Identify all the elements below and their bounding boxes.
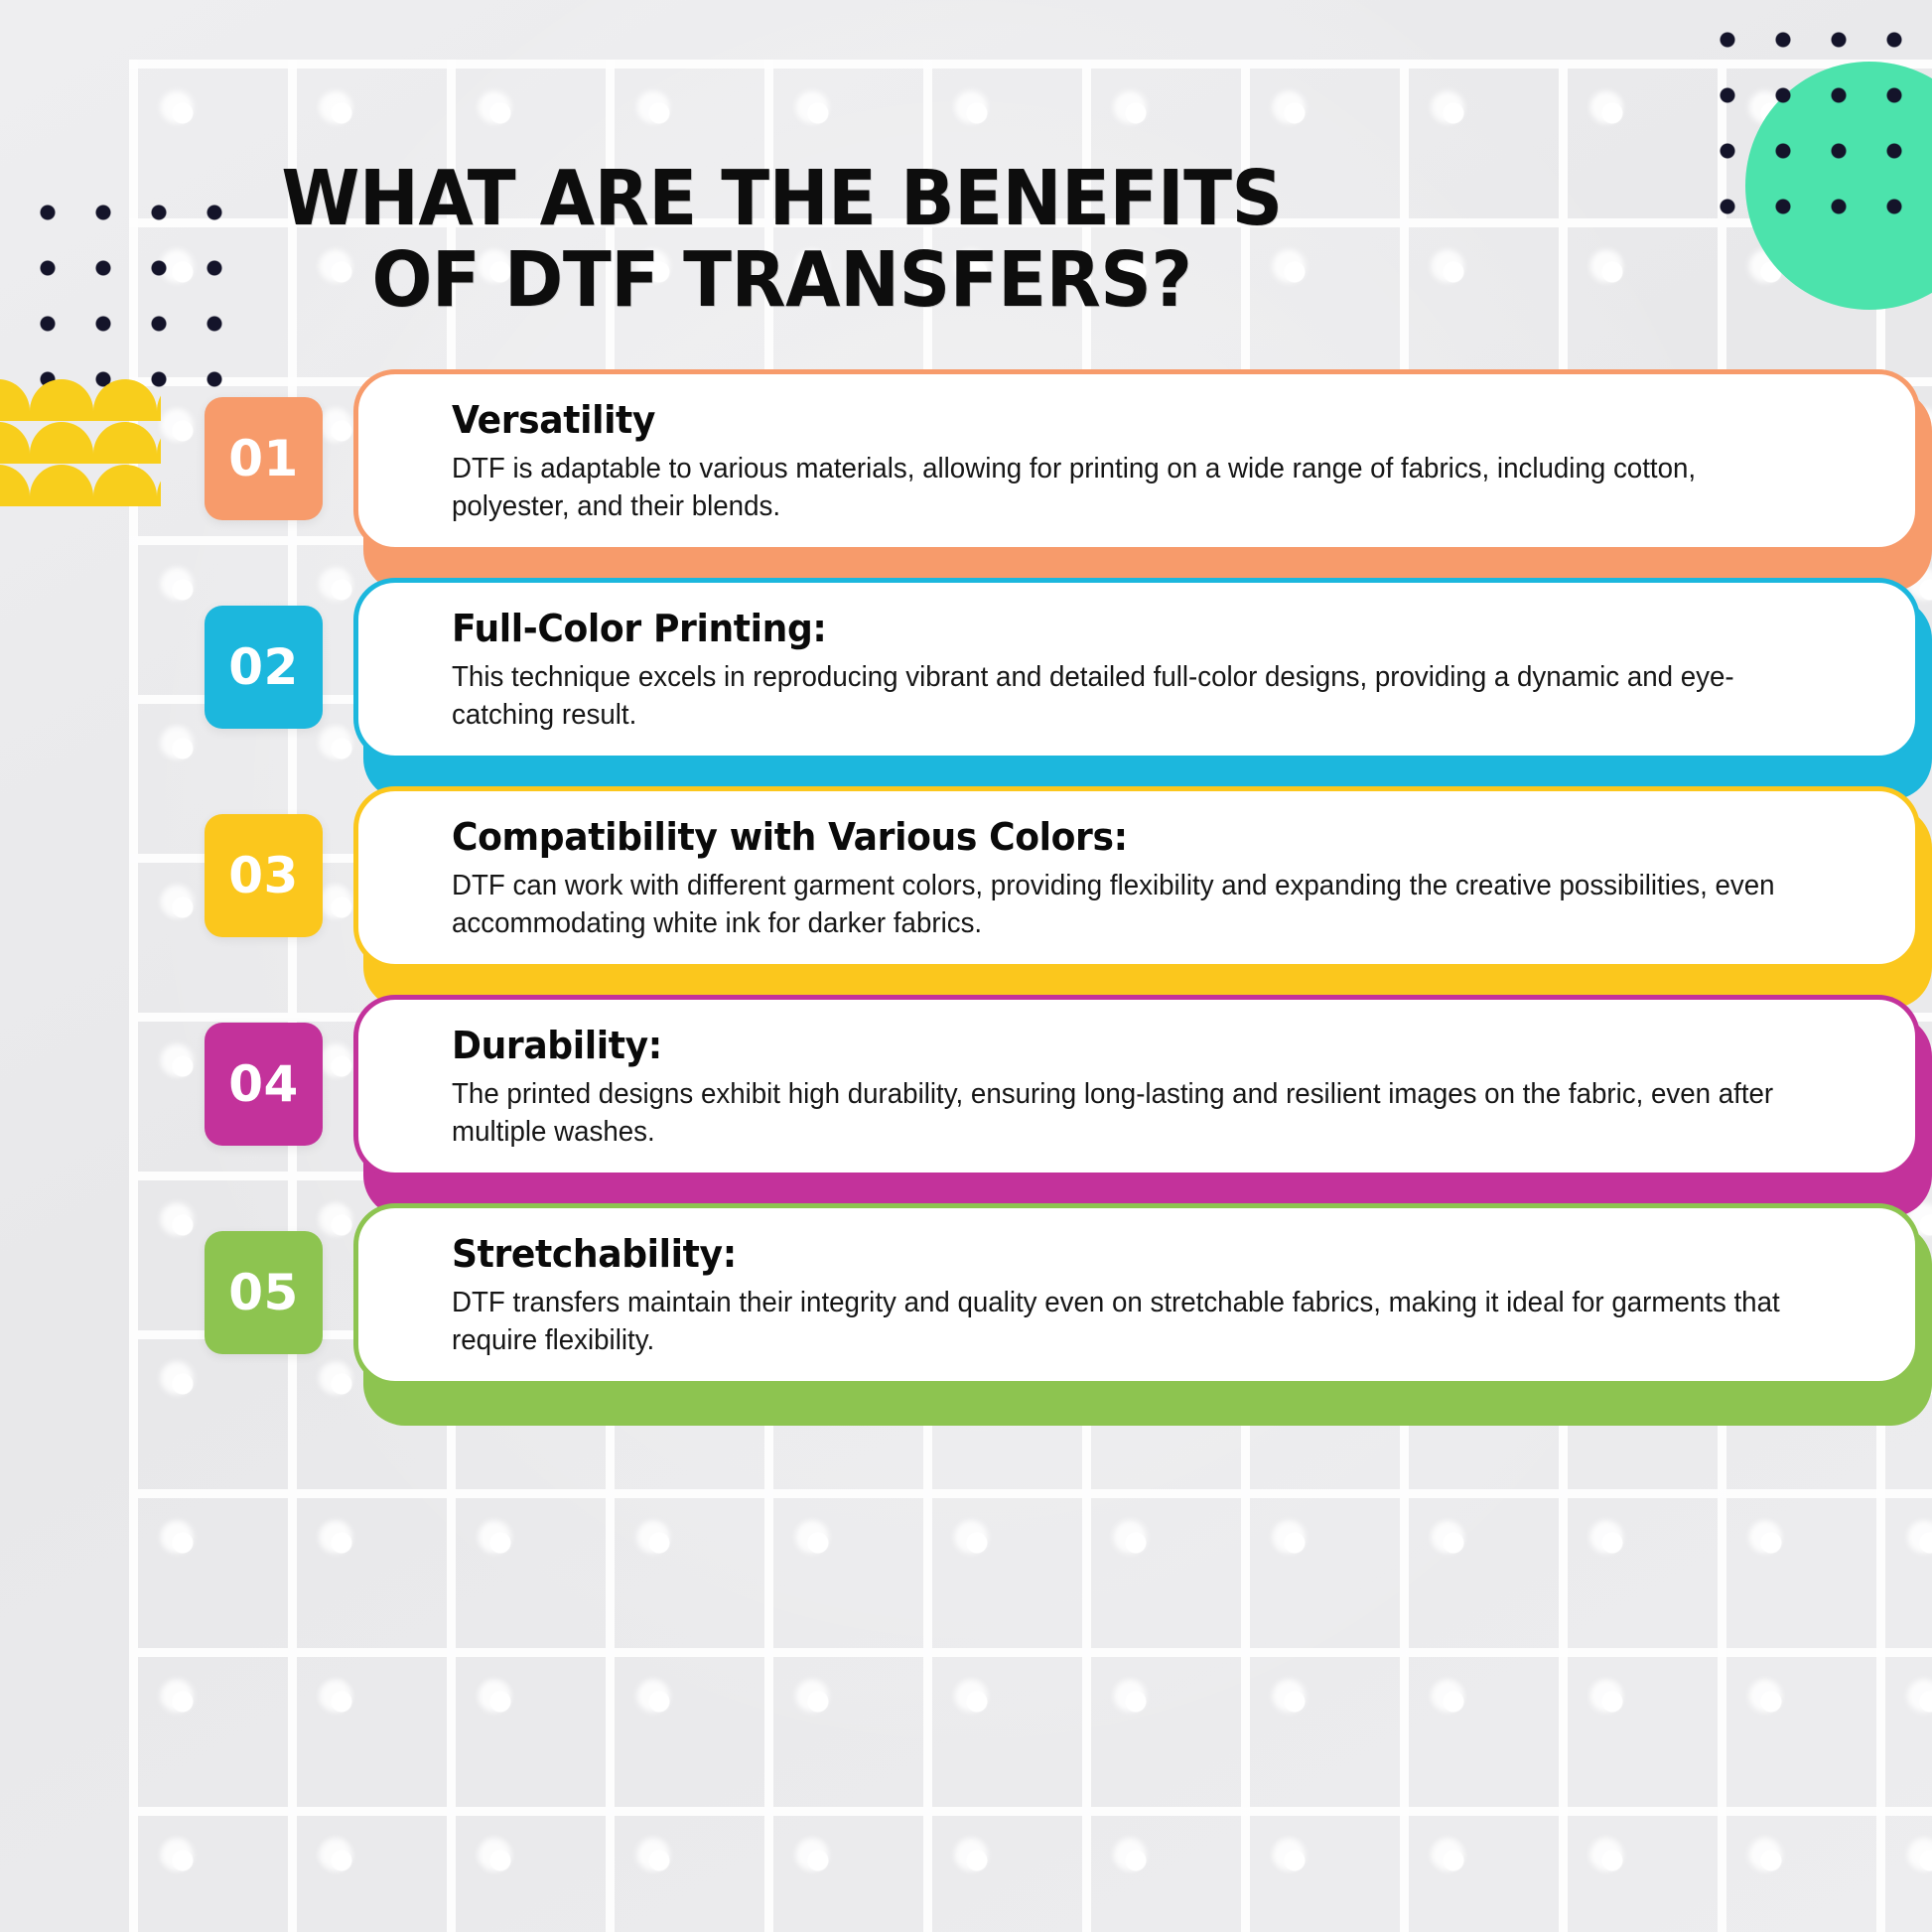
benefit-title: Stretchability: bbox=[452, 1233, 1804, 1276]
list-item: Compatibility with Various Colors: DTF c… bbox=[0, 782, 1932, 991]
benefit-number-badge: 03 bbox=[205, 814, 323, 937]
semicircle-row bbox=[0, 465, 161, 506]
benefit-title: Versatility bbox=[452, 399, 1804, 442]
benefit-card[interactable]: Stretchability: DTF transfers maintain t… bbox=[353, 1203, 1920, 1386]
benefit-title: Durability: bbox=[452, 1025, 1804, 1067]
list-item: Stretchability: DTF transfers maintain t… bbox=[0, 1199, 1932, 1408]
list-item: Versatility DTF is adaptable to various … bbox=[0, 365, 1932, 574]
semicircle-icon bbox=[157, 379, 161, 421]
semicircle-icon bbox=[0, 422, 30, 464]
dot-grid-top-right-icon bbox=[1696, 8, 1924, 251]
benefit-description: This technique excels in reproducing vib… bbox=[452, 658, 1811, 735]
benefit-description: DTF is adaptable to various materials, a… bbox=[452, 450, 1811, 526]
benefit-number-badge: 05 bbox=[205, 1231, 323, 1354]
semicircle-icon bbox=[30, 422, 93, 464]
benefit-number-badge: 01 bbox=[205, 397, 323, 520]
benefit-title: Full-Color Printing: bbox=[452, 608, 1804, 650]
semicircle-icon bbox=[0, 465, 30, 506]
semicircle-row bbox=[0, 379, 161, 421]
list-item: Durability: The printed designs exhibit … bbox=[0, 991, 1932, 1199]
list-item: Full-Color Printing: This technique exce… bbox=[0, 574, 1932, 782]
benefit-number-badge: 02 bbox=[205, 606, 323, 729]
semicircle-icon bbox=[30, 379, 93, 421]
benefit-description: DTF transfers maintain their integrity a… bbox=[452, 1284, 1811, 1360]
semicircle-icon bbox=[93, 465, 157, 506]
semicircle-icon bbox=[0, 379, 30, 421]
semicircle-icon bbox=[93, 379, 157, 421]
benefit-card[interactable]: Durability: The printed designs exhibit … bbox=[353, 995, 1920, 1177]
semicircle-icon bbox=[30, 465, 93, 506]
benefits-list: Versatility DTF is adaptable to various … bbox=[0, 365, 1932, 1408]
benefit-title: Compatibility with Various Colors: bbox=[452, 816, 1804, 859]
benefit-description: DTF can work with different garment colo… bbox=[452, 867, 1811, 943]
semicircle-row bbox=[0, 422, 161, 464]
semicircle-icon bbox=[157, 422, 161, 464]
yellow-semicircles-decoration bbox=[0, 379, 161, 506]
semicircle-icon bbox=[157, 465, 161, 506]
benefit-card[interactable]: Versatility DTF is adaptable to various … bbox=[353, 369, 1920, 552]
benefit-card[interactable]: Full-Color Printing: This technique exce… bbox=[353, 578, 1920, 760]
benefit-description: The printed designs exhibit high durabil… bbox=[452, 1075, 1811, 1152]
benefit-number-badge: 04 bbox=[205, 1023, 323, 1146]
semicircle-icon bbox=[93, 422, 157, 464]
benefit-card[interactable]: Compatibility with Various Colors: DTF c… bbox=[353, 786, 1920, 969]
page-title: WHAT ARE THE BENEFITS OF DTF TRANSFERS? bbox=[253, 159, 1311, 323]
